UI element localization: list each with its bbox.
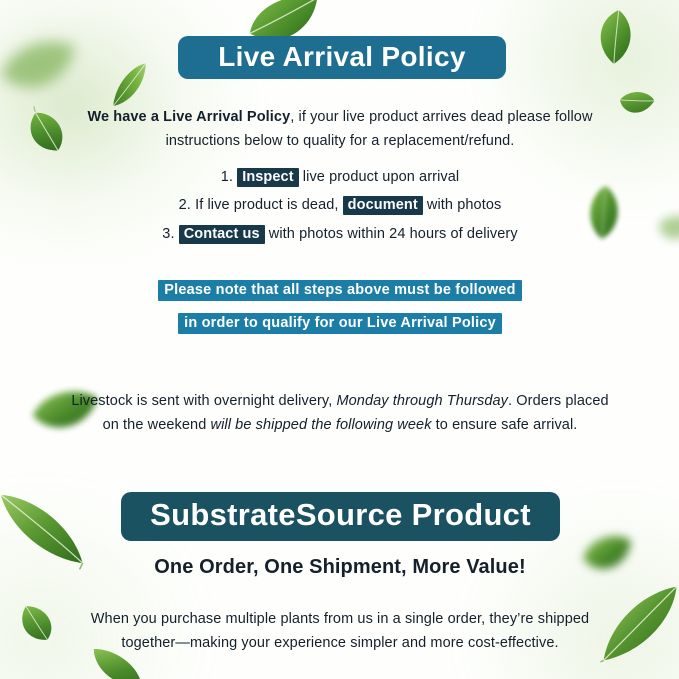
policy-note-line-2: in order to qualify for our Live Arrival… [178,313,502,334]
policy-note-line-2-wrap: in order to qualify for our Live Arrival… [70,307,610,340]
step-text-before: If live product is dead, [195,197,338,213]
banner-substratesource-product: SubstrateSource Product [121,492,560,541]
step-number: 2. [179,197,191,213]
content-layer: Live Arrival Policy We have a Live Arriv… [0,0,679,679]
livestock-shipping-paragraph: Livestock is sent with overnight deliver… [70,389,610,439]
livestock-italic-days: Monday through Thursday [336,393,508,409]
intro-paragraph: We have a Live Arrival Policy, if your l… [70,105,610,155]
policy-note-line-1-wrap: Please note that all steps above must be… [70,274,610,307]
step-number: 1. [221,169,233,185]
intro-bold-lead: We have a Live Arrival Policy [87,109,290,125]
step-number: 3. [162,226,174,242]
infographic-page: Live Arrival Policy We have a Live Arriv… [0,0,679,679]
banner-live-arrival-policy: Live Arrival Policy [178,36,506,79]
policy-note-block: Please note that all steps above must be… [70,274,610,340]
steps-list: 1. Inspect live product upon arrival 2. … [70,163,610,248]
list-item: 3. Contact us with photos within 24 hour… [70,220,610,248]
policy-note-line-1: Please note that all steps above must be… [158,280,521,301]
step-text: live product upon arrival [303,169,459,185]
livestock-italic-following-week: will be shipped the following week [211,417,432,433]
step-highlight-document: document [343,196,423,215]
banner-live-arrival-policy-label: Live Arrival Policy [218,41,465,73]
step-text: with photos within 24 hours of delivery [269,226,518,242]
step-highlight-inspect: Inspect [237,168,298,187]
product-subheading: One Order, One Shipment, More Value! [70,556,610,579]
list-item: 2. If live product is dead, document wit… [70,191,610,219]
livestock-part1: Livestock is sent with overnight deliver… [71,393,336,409]
step-text: with photos [427,197,501,213]
banner-substratesource-product-label: SubstrateSource Product [150,497,531,533]
product-body-paragraph: When you purchase multiple plants from u… [80,607,600,657]
livestock-part3: to ensure safe arrival. [432,417,578,433]
list-item: 1. Inspect live product upon arrival [70,163,610,191]
step-highlight-contact-us: Contact us [179,225,265,244]
